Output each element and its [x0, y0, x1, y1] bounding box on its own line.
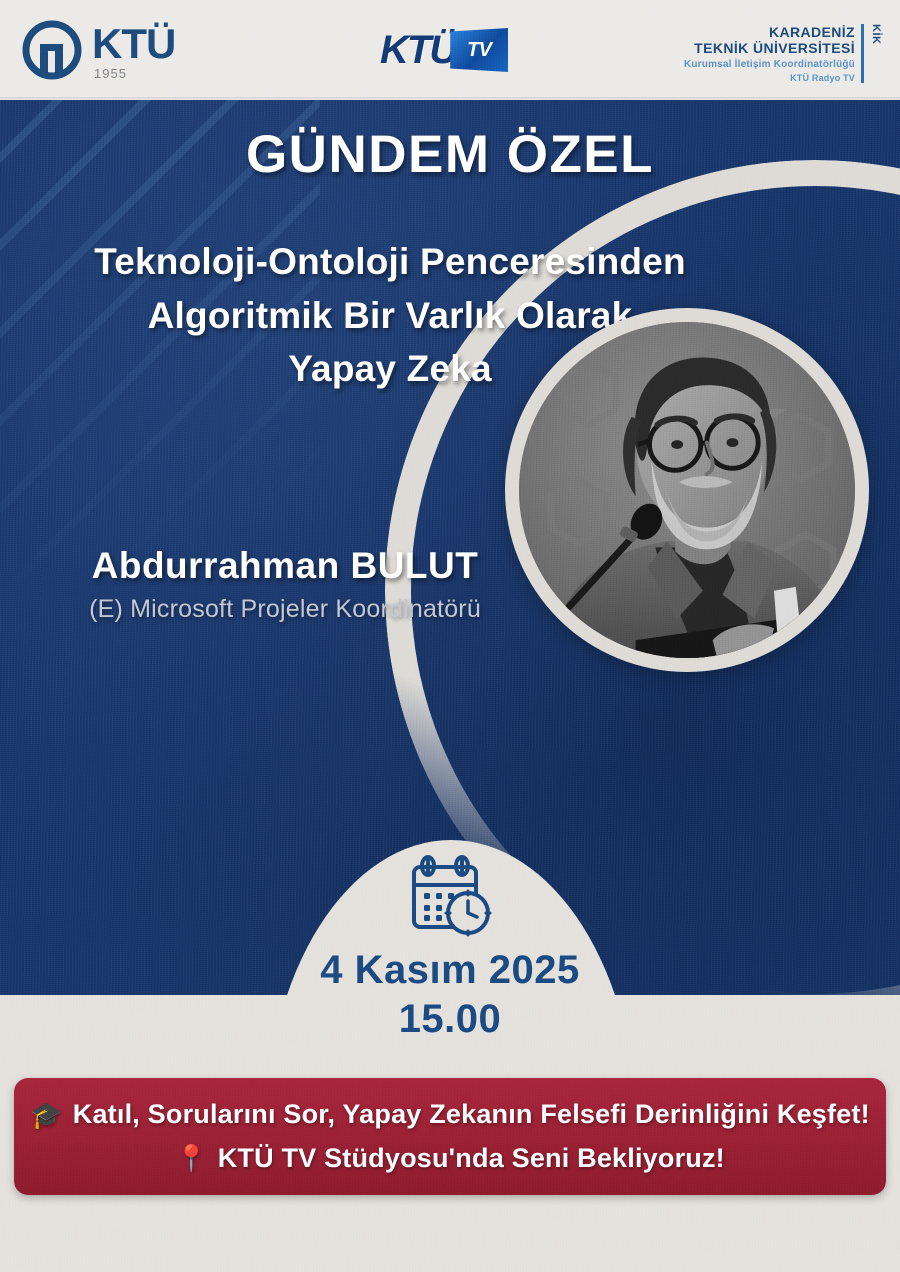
calendar-clock-icon — [402, 855, 498, 941]
poster-kicker: GÜNDEM ÖZEL — [0, 124, 900, 185]
cta-line-1: 🎓 Katıl, Sorularını Sor, Yapay Zekanın F… — [30, 1098, 870, 1132]
speaker-name: Abdurrahman BULUT — [20, 545, 550, 587]
event-time: 15.00 — [250, 997, 650, 1042]
ktu-university-logo: KTÜ 1955 — [22, 20, 175, 82]
location-pin-icon: 📍 — [175, 1145, 208, 1171]
cta-line-1-text: Katıl, Sorularını Sor, Yapay Zekanın Fel… — [73, 1098, 870, 1132]
university-name-line2: TEKNİK ÜNİVERSİTESİ — [684, 40, 855, 56]
kik-department-logo: KARADENİZ TEKNİK ÜNİVERSİTESİ Kurumsal İ… — [684, 24, 882, 83]
speaker-portrait-frame — [505, 308, 869, 672]
graduation-cap-icon: 🎓 — [30, 1102, 63, 1128]
speaker-portrait-photo — [519, 322, 855, 658]
ktu-tv-logo: KTÜ TV — [380, 28, 508, 72]
radio-tv-label: KTÜ Radyo TV — [684, 73, 855, 83]
cta-line-2: 📍 KTÜ TV Stüdyosu'nda Seni Bekliyoruz! — [175, 1142, 725, 1176]
portrait-illustration — [519, 322, 855, 658]
cta-line-2-text: KTÜ TV Stüdyosu'nda Seni Bekliyoruz! — [218, 1142, 725, 1176]
logo-divider-bar — [861, 24, 864, 83]
poster-header: KTÜ 1955 KTÜ TV KARADENİZ TEKNİK ÜNİVERS… — [0, 0, 900, 100]
speaker-role: (E) Microsoft Projeler Koordinatörü — [20, 595, 550, 624]
call-to-action-banner: 🎓 Katıl, Sorularını Sor, Yapay Zekanın F… — [14, 1078, 886, 1195]
university-name-line1: KARADENİZ — [684, 24, 855, 40]
title-line-1: Teknoloji-Ontoloji Penceresinden — [0, 235, 780, 289]
tv-badge-label: TV — [467, 39, 492, 62]
event-poster: KTÜ 1955 KTÜ TV KARADENİZ TEKNİK ÜNİVERS… — [0, 0, 900, 1272]
ktu-logo-acronym: KTÜ — [92, 23, 175, 65]
kik-vertical-label: KİK — [870, 24, 882, 83]
ktu-monogram-icon — [22, 20, 88, 82]
department-name: Kurumsal İletişim Koordinatörlüğü — [684, 59, 855, 71]
ktu-logo-year: 1955 — [94, 67, 175, 80]
event-date: 4 Kasım 2025 — [250, 947, 650, 993]
event-datetime: 4 Kasım 2025 15.00 — [250, 855, 650, 1042]
ktu-tv-logo-text: KTÜ — [380, 30, 456, 70]
speaker-info: Abdurrahman BULUT (E) Microsoft Projeler… — [20, 545, 550, 624]
tv-screen-icon: TV — [450, 28, 508, 72]
